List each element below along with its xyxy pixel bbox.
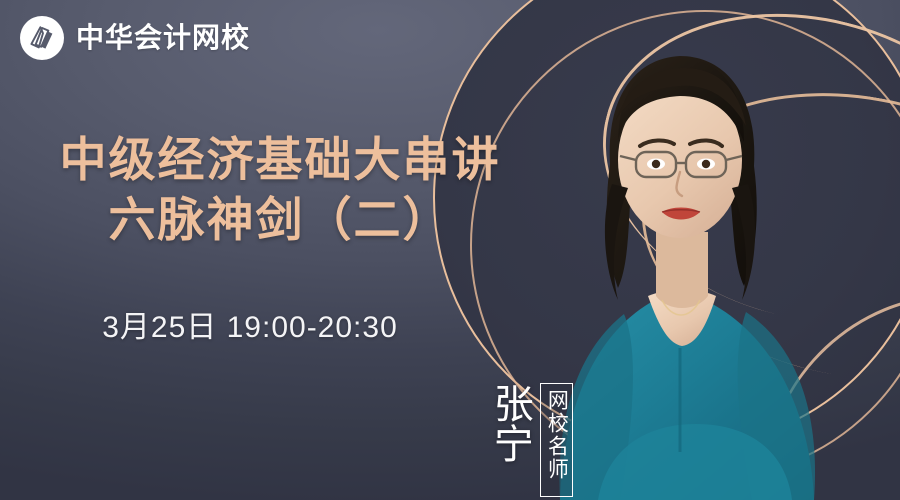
academy-emblem-icon	[20, 16, 64, 60]
presenter-badge: 网校名师	[540, 383, 574, 497]
brand-name: 中华会计网校	[76, 24, 250, 52]
presenter-portrait	[520, 0, 900, 500]
presenter-name: 张宁	[487, 383, 532, 483]
course-title-line-1: 中级经济基础大串讲	[0, 130, 560, 190]
brand-header: 中华会计网校	[20, 16, 250, 60]
presenter-nameplate: 张宁 网校名师	[487, 383, 573, 497]
course-promo-banner: 中华会计网校 中级经济基础大串讲 六脉神剑（二） 3月25日 19:00-20:…	[0, 0, 900, 500]
course-title-line-2: 六脉神剑（二）	[0, 190, 560, 250]
presenter-badge-label: 网校名师	[545, 389, 569, 481]
schedule-text: 3月25日 19:00-20:30	[0, 302, 500, 346]
course-title: 中级经济基础大串讲 六脉神剑（二）	[0, 130, 560, 250]
